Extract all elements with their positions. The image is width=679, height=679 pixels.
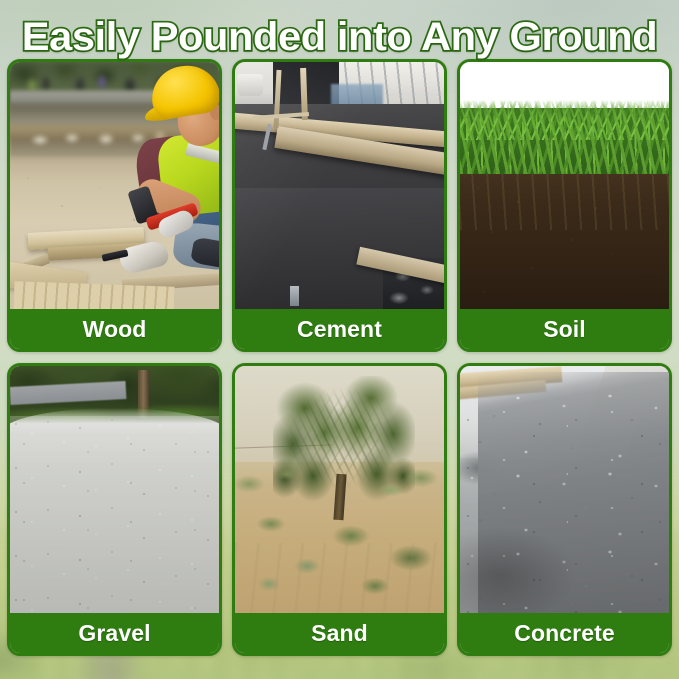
headline-container: Easily Pounded into Any Ground bbox=[0, 15, 679, 59]
surface-label-concrete: Concrete bbox=[460, 613, 669, 653]
wood-plank-foreground bbox=[14, 281, 175, 309]
soil-texture bbox=[460, 174, 669, 309]
cement-photo bbox=[235, 62, 444, 309]
surface-card-sand[interactable]: Sand bbox=[232, 363, 447, 656]
sand-photo bbox=[235, 366, 444, 613]
gravel-photo bbox=[10, 366, 219, 613]
soil-grass-blade-tips bbox=[460, 100, 669, 140]
surface-label-gravel: Gravel bbox=[10, 613, 219, 653]
surface-card-cement[interactable]: Cement bbox=[232, 59, 447, 352]
surface-card-soil[interactable]: Soil bbox=[457, 59, 672, 352]
surface-label-sand: Sand bbox=[235, 613, 444, 653]
soil-photo bbox=[460, 62, 669, 309]
page-title: Easily Pounded into Any Ground bbox=[22, 15, 657, 59]
surface-card-wood[interactable]: Wood bbox=[7, 59, 222, 352]
product-feature-banner: Easily Pounded into Any Ground bbox=[0, 0, 679, 679]
surface-label-cement: Cement bbox=[235, 309, 444, 349]
cement-surface-sheen bbox=[235, 62, 444, 309]
concrete-photo bbox=[460, 366, 669, 613]
gravel-shading bbox=[10, 416, 219, 613]
surface-card-concrete[interactable]: Concrete bbox=[457, 363, 672, 656]
wood-photo bbox=[10, 62, 219, 309]
concrete-shading bbox=[460, 366, 669, 613]
surface-label-wood: Wood bbox=[10, 309, 219, 349]
surface-label-soil: Soil bbox=[460, 309, 669, 349]
surface-card-gravel[interactable]: Gravel bbox=[7, 363, 222, 656]
sand-surface-tracks bbox=[235, 543, 444, 613]
surface-type-grid: Wood Cement bbox=[7, 59, 672, 656]
